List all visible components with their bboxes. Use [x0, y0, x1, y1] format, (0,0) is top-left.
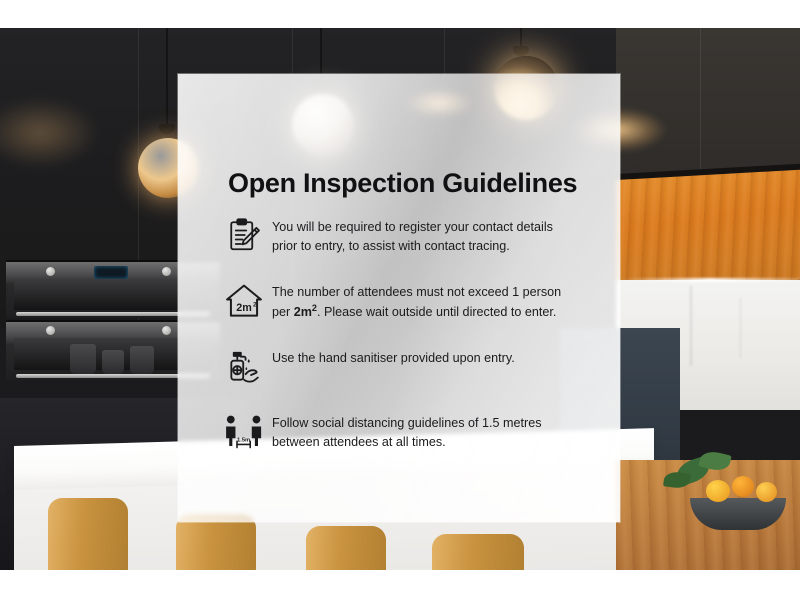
guidelines-panel: Open Inspection Guidelines: [178, 74, 620, 522]
list-item: 1.5m Follow social distancing guidelines…: [222, 412, 592, 451]
social-distancing-icon: 1.5m: [222, 412, 266, 451]
house-icon-label: 2m: [236, 302, 252, 314]
marble-vein: [740, 298, 741, 358]
cookware: [130, 346, 154, 374]
hand-sanitiser-icon: [222, 347, 266, 386]
page-title: Open Inspection Guidelines: [228, 168, 577, 199]
dark-upper-cabinets-right: [616, 28, 800, 188]
guideline-2-line-2-pre: per: [272, 305, 294, 319]
house-icon-label-sup: 2: [253, 301, 257, 308]
fruit: [756, 482, 777, 502]
list-item-text: You will be required to register your co…: [266, 216, 553, 255]
guideline-1-line-2: prior to entry, to assist with contact t…: [272, 239, 510, 253]
pendant-cord: [166, 28, 168, 128]
marble-vein: [690, 286, 692, 366]
list-item: 2m 2 The number of attendees must not ex…: [222, 281, 592, 321]
guideline-2-line-2-post: . Please wait outside until directed to …: [317, 305, 556, 319]
guideline-4-line-2: between attendees at all times.: [272, 435, 446, 449]
cookware: [70, 344, 96, 374]
cabinet-seam: [700, 28, 701, 180]
poster-canvas: Open Inspection Guidelines: [0, 0, 800, 600]
clipboard-pencil-icon: [222, 216, 266, 253]
house-2m2-icon: 2m 2: [222, 281, 266, 320]
guideline-1-line-1: You will be required to register your co…: [272, 220, 553, 234]
guideline-2-line-1: The number of attendees must not exceed …: [272, 285, 561, 299]
timber-wall-panel: [616, 170, 800, 290]
fruit: [732, 476, 754, 497]
list-item: You will be required to register your co…: [222, 216, 592, 255]
guideline-4-line-1: Follow social distancing guidelines of 1…: [272, 416, 542, 430]
under-cabinet-led: [620, 278, 800, 282]
list-item-text: The number of attendees must not exceed …: [266, 281, 561, 321]
distance-label: 1.5m: [237, 438, 250, 444]
fruit: [706, 480, 730, 502]
list-item-text: Follow social distancing guidelines of 1…: [266, 412, 542, 451]
guideline-3-line-1: Use the hand sanitiser provided upon ent…: [272, 351, 515, 365]
guidelines-list: You will be required to register your co…: [222, 216, 592, 475]
list-item: Use the hand sanitiser provided upon ent…: [222, 347, 592, 386]
cookware: [102, 350, 124, 374]
list-item-text: Use the hand sanitiser provided upon ent…: [266, 347, 515, 368]
guideline-2-bold: 2m: [294, 305, 312, 319]
